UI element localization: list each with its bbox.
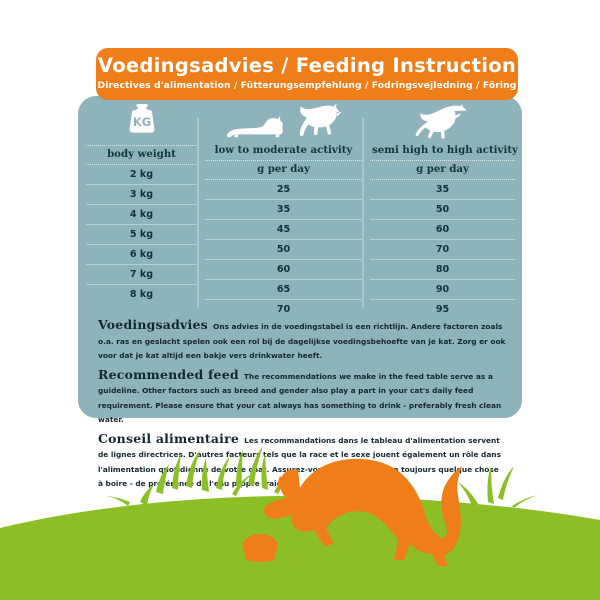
table-cell-weight: 8 kg — [86, 285, 197, 304]
cat-lying-icon — [226, 114, 288, 140]
column-header-low-main: low to moderate activity — [205, 142, 362, 161]
table-cell-low: 60 — [205, 260, 362, 280]
table-cell-low: 25 — [205, 180, 362, 200]
feeding-table: KG body weight 2 kg 3 kg 4 kg 5 kg 6 kg … — [78, 96, 522, 316]
high-activity-icon-cell — [370, 96, 515, 142]
note-nl: Voedingsadvies Ons advies in de voedings… — [98, 318, 506, 362]
low-activity-icon-cell — [205, 96, 362, 142]
table-cell-high: 35 — [370, 180, 515, 200]
table-cell-weight: 2 kg — [86, 165, 197, 185]
column-header-high-main: semi high to high activity — [370, 142, 515, 161]
cat-standing-icon — [296, 102, 342, 140]
table-cell-low: 50 — [205, 240, 362, 260]
page-title: Voedingsadvies / Feeding Instruction — [96, 54, 518, 78]
note-lead-nl: Voedingsadvies — [98, 317, 208, 332]
table-cell-low: 45 — [205, 220, 362, 240]
table-cell-weight: 5 kg — [86, 225, 197, 245]
feeding-instruction-panel: KG body weight 2 kg 3 kg 4 kg 5 kg 6 kg … — [78, 96, 522, 418]
column-high-activity: semi high to high activity g per day 35 … — [370, 96, 515, 319]
column-body-weight: KG body weight 2 kg 3 kg 4 kg 5 kg 6 kg … — [86, 96, 197, 304]
table-cell-weight: 6 kg — [86, 245, 197, 265]
table-cell-weight: 3 kg — [86, 185, 197, 205]
column-low-activity: low to moderate activity g per day 25 35… — [205, 96, 362, 319]
column-divider-1 — [197, 118, 199, 308]
column-header-high-sub: g per day — [370, 161, 515, 180]
svg-text:KG: KG — [132, 115, 150, 129]
bottom-illustration — [0, 440, 600, 600]
kg-weight-icon: KG — [125, 100, 159, 140]
table-cell-low: 35 — [205, 200, 362, 220]
header-banner: Voedingsadvies / Feeding Instruction Dir… — [96, 48, 518, 100]
table-cell-high: 50 — [370, 200, 515, 220]
column-header-weight-sub: body weight — [86, 146, 197, 165]
table-cell-high: 80 — [370, 260, 515, 280]
table-cell-high: 60 — [370, 220, 515, 240]
table-cell-high: 95 — [370, 300, 515, 319]
note-en: Recommended feed The recommendations we … — [98, 368, 506, 426]
column-divider-2 — [362, 118, 364, 308]
note-lead-en: Recommended feed — [98, 367, 239, 382]
cat-running-icon — [415, 104, 471, 140]
table-cell-weight: 4 kg — [86, 205, 197, 225]
table-cell-low: 65 — [205, 280, 362, 300]
page-subtitle: Directives d'alimentation / Fütterungsem… — [96, 79, 518, 92]
table-cell-high: 90 — [370, 280, 515, 300]
table-cell-high: 70 — [370, 240, 515, 260]
kg-weight-icon-cell: KG — [86, 96, 197, 142]
column-header-low-sub: g per day — [205, 161, 362, 180]
table-cell-weight: 7 kg — [86, 265, 197, 285]
table-cell-low: 70 — [205, 300, 362, 319]
